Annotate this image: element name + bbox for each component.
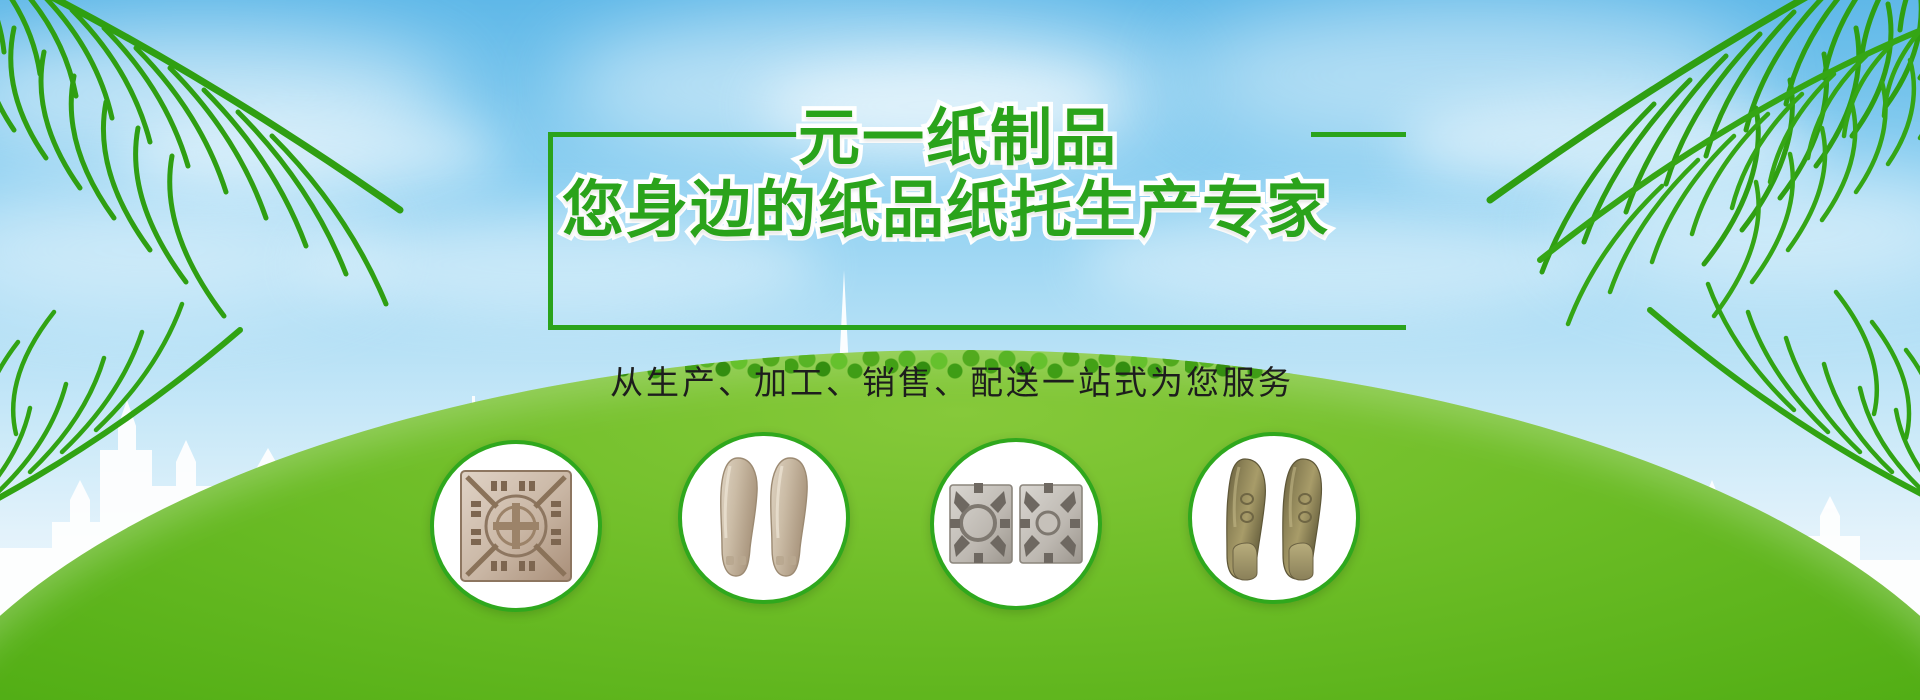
double-pulp-tray-gray-image: [934, 442, 1098, 606]
product-circle-pulp-shoe-form-dark[interactable]: [1188, 432, 1360, 604]
product-circle-pulp-shoe-form-light[interactable]: [678, 432, 850, 604]
headline-line-2: 您身边的纸品纸托生产专家: [562, 180, 1330, 242]
pulp-shoe-form-dark-image: [1192, 436, 1356, 600]
product-circle-square-pulp-tray[interactable]: [430, 440, 602, 612]
pulp-shoe-form-light-image: [682, 436, 846, 600]
headline-subtitle: 从生产、加工、销售、配送一站式为您服务: [610, 356, 1294, 404]
headline-line-1: 元一纸制品: [798, 108, 1118, 170]
product-showcase: [430, 432, 1480, 622]
product-circle-double-pulp-tray-gray[interactable]: [930, 438, 1102, 610]
square-pulp-tray-image: [434, 444, 598, 608]
promo-banner: 元一纸制品 您身边的纸品纸托生产专家 从生产、加工、销售、配送一站式为您服务: [0, 0, 1920, 700]
cloud: [120, 110, 500, 194]
